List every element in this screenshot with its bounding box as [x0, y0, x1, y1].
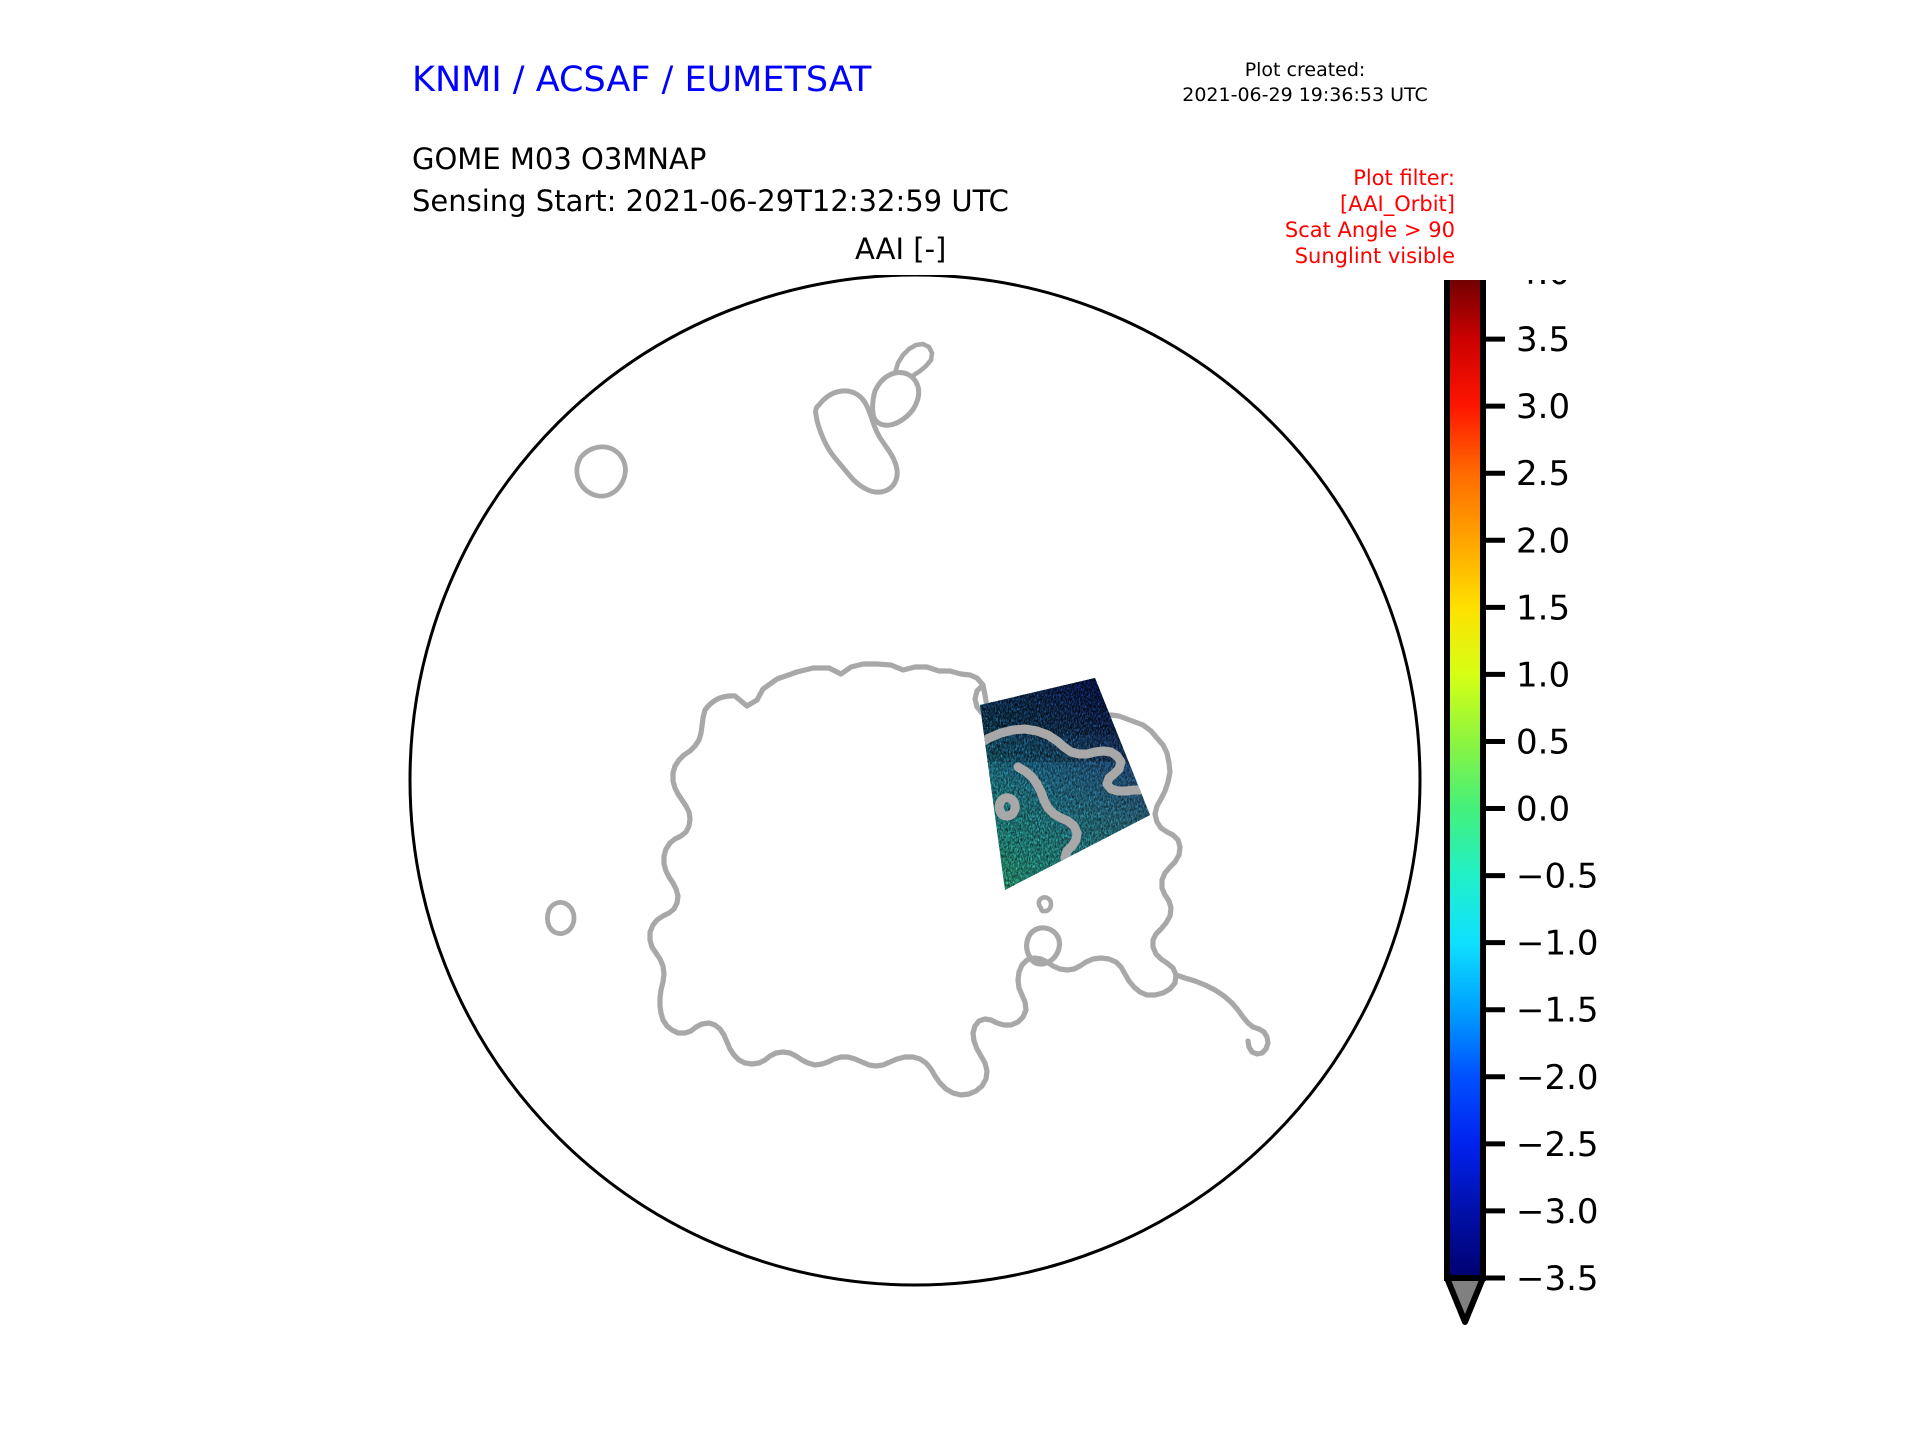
product-info-block: GOME M03 O3MNAP Sensing Start: 2021-06-2… [412, 138, 1009, 222]
plot-page: KNMI / ACSAF / EUMETSAT Plot created: 20… [0, 0, 1920, 1440]
colorbar-tick-label: −2.5 [1516, 1125, 1599, 1165]
colorbar-tick-label: −1.5 [1516, 991, 1599, 1031]
plot-filter-block: Plot filter: [AAI_Orbit] Scat Angle > 90… [1175, 165, 1455, 269]
plot-filter-line-1: [AAI_Orbit] [1175, 191, 1455, 217]
map-canvas [405, 275, 1425, 1295]
colorbar-tick-label: −3.0 [1516, 1192, 1599, 1232]
colorbar-tick-label: 0.5 [1516, 722, 1570, 762]
plot-filter-line-3: Sunglint visible [1175, 243, 1455, 269]
sensing-start: Sensing Start: 2021-06-29T12:32:59 UTC [412, 180, 1009, 222]
colorbar-tick-label: −2.0 [1516, 1058, 1599, 1098]
colorbar: 4.03.53.02.52.01.51.00.50.0−0.5−1.0−1.5−… [1430, 280, 1730, 1340]
plot-created-timestamp: 2021-06-29 19:36:53 UTC [1160, 83, 1450, 108]
page-title: AAI [-] [855, 232, 946, 266]
colorbar-tick-label: 3.5 [1516, 320, 1570, 360]
colorbar-tick-label: 0.0 [1516, 790, 1570, 830]
colorbar-svg: 4.03.53.02.52.01.51.00.50.0−0.5−1.0−1.5−… [1430, 280, 1730, 1340]
plot-created-label: Plot created: [1160, 58, 1450, 83]
plot-created-block: Plot created: 2021-06-29 19:36:53 UTC [1160, 58, 1450, 108]
colorbar-tick-label: 1.5 [1516, 588, 1570, 628]
plot-filter-line-2: Scat Angle > 90 [1175, 217, 1455, 243]
colorbar-tick-label: −1.0 [1516, 924, 1599, 964]
institutes-header: KNMI / ACSAF / EUMETSAT [412, 60, 871, 100]
colorbar-under-arrow [1447, 1278, 1483, 1322]
colorbar-tick-label: 4.0 [1516, 280, 1570, 293]
plot-filter-title: Plot filter: [1175, 165, 1455, 191]
colorbar-tick-label: −3.5 [1516, 1259, 1599, 1299]
product-name: GOME M03 O3MNAP [412, 138, 1009, 180]
colorbar-ticks: 4.03.53.02.52.01.51.00.50.0−0.5−1.0−1.5−… [1483, 280, 1599, 1299]
globe-background [410, 275, 1420, 1285]
polar-map-svg [405, 275, 1425, 1295]
colorbar-tick-label: 3.0 [1516, 387, 1570, 427]
colorbar-gradient [1447, 280, 1483, 1278]
australia-coast-fragment [405, 363, 502, 435]
colorbar-tick-label: −0.5 [1516, 857, 1599, 897]
colorbar-tick-label: 1.0 [1516, 655, 1570, 695]
colorbar-tick-label: 2.0 [1516, 521, 1570, 561]
colorbar-tick-label: 2.5 [1516, 454, 1570, 494]
